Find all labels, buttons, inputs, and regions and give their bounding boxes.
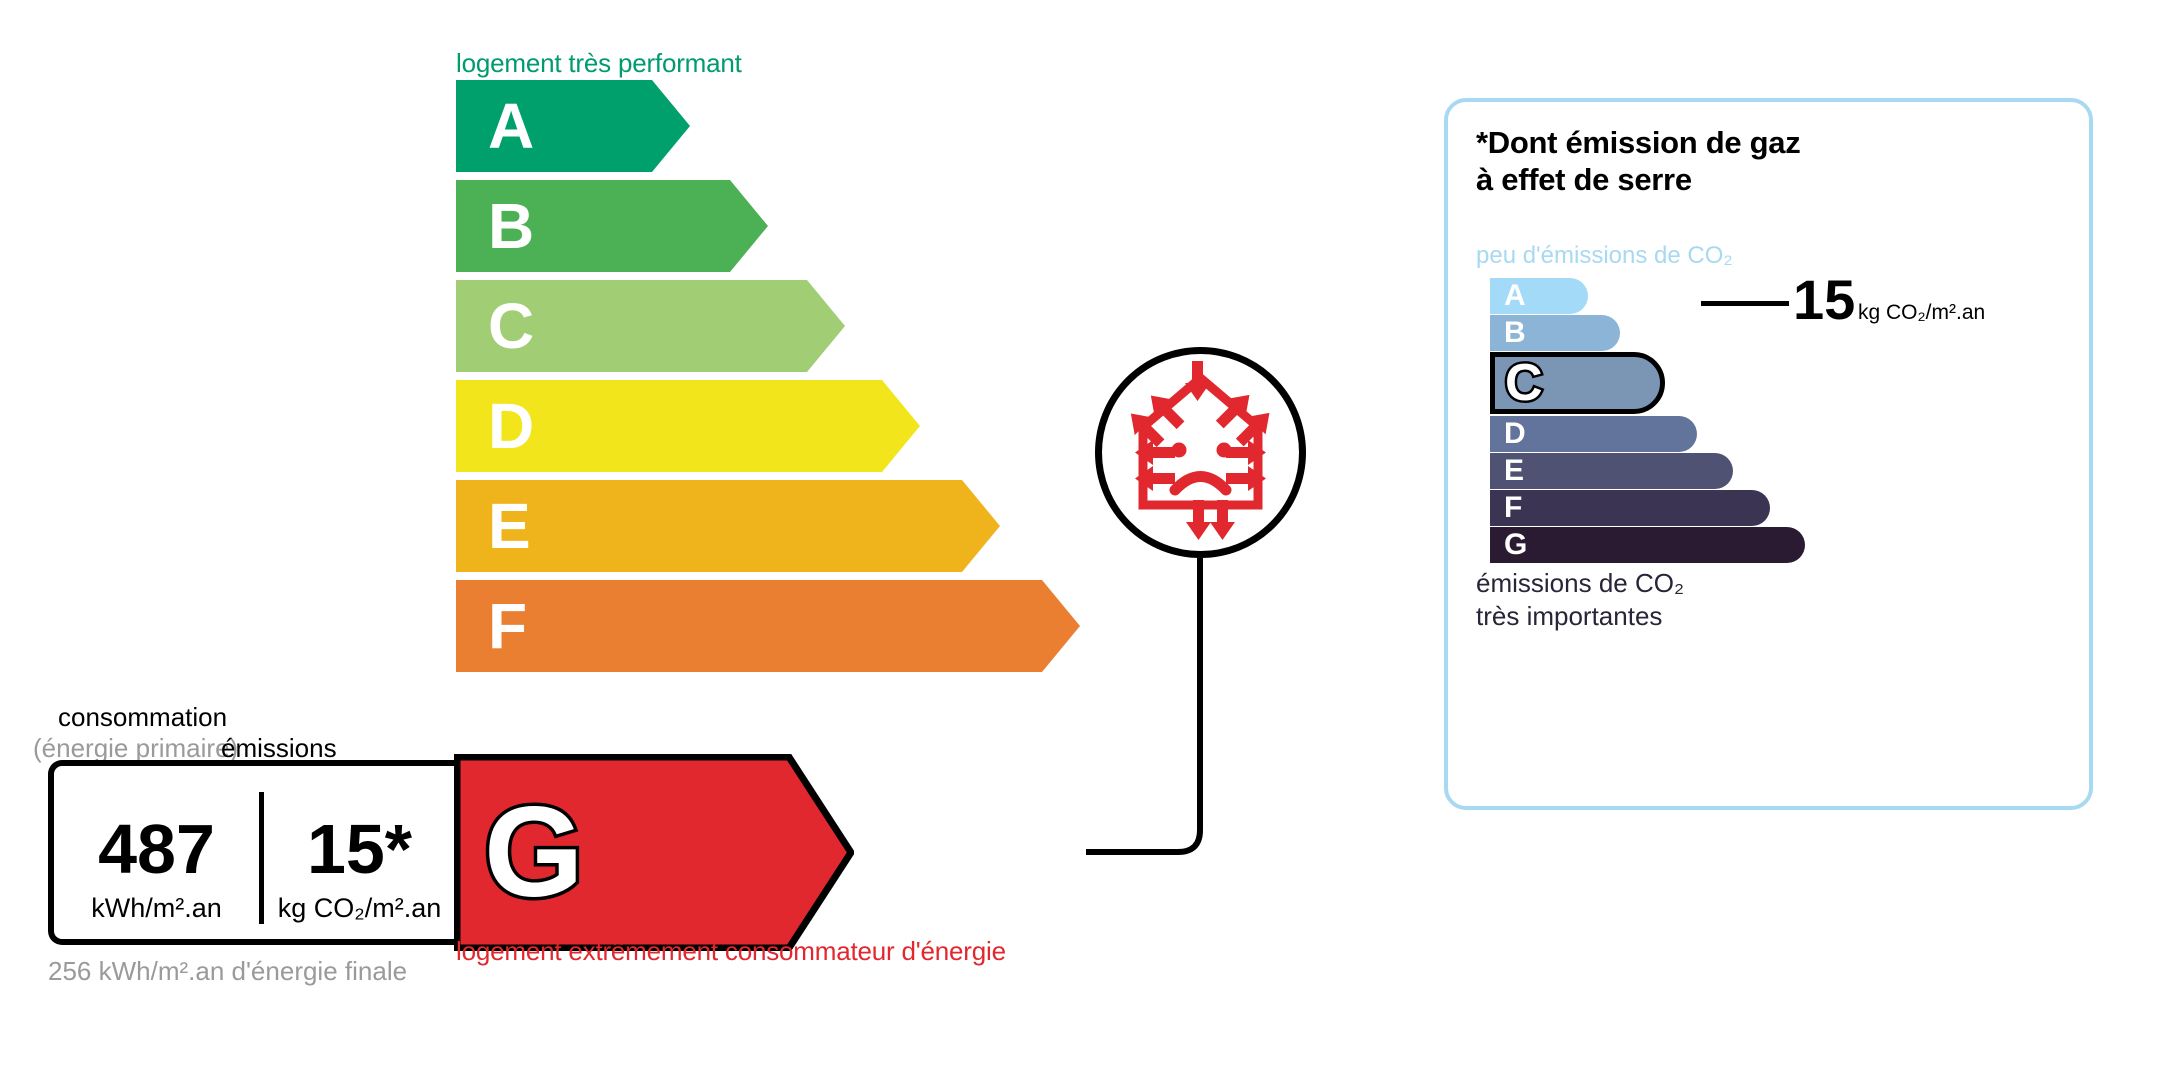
co2-band-a-letter: A: [1504, 281, 1526, 311]
emissions-value: 15*: [307, 814, 412, 884]
co2-band-e-letter: E: [1504, 456, 1524, 486]
energy-band-g-letter: G: [484, 789, 584, 917]
co2-band-c-letter: C: [1505, 357, 1543, 409]
co2-value-leader-line: [1701, 301, 1789, 306]
co2-panel-title: *Dont émission de gaz à effet de serre: [1476, 124, 1800, 198]
co2-band-a[interactable]: A: [1490, 278, 1588, 314]
energy-band-a[interactable]: A: [456, 80, 690, 172]
scale-top-note: logement très performant: [456, 48, 742, 79]
consumption-value-cell: 487 kWh/m².an: [54, 766, 259, 939]
energy-band-g-selected[interactable]: G: [454, 754, 854, 951]
consumption-header-label: consommation: [58, 702, 227, 733]
energy-band-f-letter: F: [488, 594, 527, 658]
consumption-value: 487: [98, 814, 215, 884]
co2-band-c-selected[interactable]: C: [1490, 352, 1665, 414]
energy-band-c-letter: C: [488, 294, 534, 358]
consumption-unit: kWh/m².an: [91, 893, 222, 924]
co2-band-d-letter: D: [1504, 419, 1526, 449]
energy-band-e-letter: E: [488, 494, 531, 558]
co2-value-unit: kg CO₂/m².an: [1858, 301, 1985, 325]
co2-bottom-note: émissions de CO₂ très importantes: [1476, 567, 1684, 632]
co2-band-d[interactable]: D: [1490, 416, 1697, 452]
final-energy-note: 256 kWh/m².an d'énergie finale: [48, 955, 407, 988]
co2-band-e[interactable]: E: [1490, 453, 1733, 489]
badge-connector-shape: [1080, 530, 1300, 890]
sad-house-heat-loss-icon-shape: [1093, 345, 1308, 560]
energy-band-f[interactable]: F: [456, 580, 1080, 672]
energy-performance-scale: logement très performant A B C D E: [0, 0, 1200, 1079]
scale-bottom-note: logement extrêmement consommateur d'éner…: [456, 936, 1006, 967]
co2-top-note: peu d'émissions de CO₂: [1476, 242, 1733, 270]
co2-band-b[interactable]: B: [1490, 315, 1620, 351]
emissions-value-cell: 15* kg CO₂/m².an: [259, 766, 460, 939]
energy-band-b-letter: B: [488, 194, 534, 258]
co2-band-f[interactable]: F: [1490, 490, 1770, 526]
emissions-unit: kg CO₂/m².an: [278, 893, 442, 924]
energy-band-a-letter: A: [488, 94, 534, 158]
energy-band-b[interactable]: B: [456, 180, 768, 272]
value-box: 487 kWh/m².an 15* kg CO₂/m².an: [48, 760, 460, 945]
energy-band-e-shape: [456, 480, 1000, 572]
co2-band-b-letter: B: [1504, 318, 1526, 348]
energy-band-e[interactable]: E: [456, 480, 1000, 572]
co2-band-f-letter: F: [1504, 493, 1522, 523]
co2-band-g[interactable]: G: [1490, 527, 1805, 563]
energy-band-c[interactable]: C: [456, 280, 845, 372]
energy-band-f-shape: [456, 580, 1080, 672]
co2-band-g-letter: G: [1504, 530, 1527, 560]
energy-band-d[interactable]: D: [456, 380, 920, 472]
energy-band-d-letter: D: [488, 394, 534, 458]
badge-connector-line: [1080, 530, 1300, 890]
sad-house-heat-loss-icon: [1093, 345, 1308, 560]
co2-emissions-panel: *Dont émission de gaz à effet de serre p…: [1444, 98, 2093, 810]
co2-value: 15: [1793, 272, 1855, 328]
